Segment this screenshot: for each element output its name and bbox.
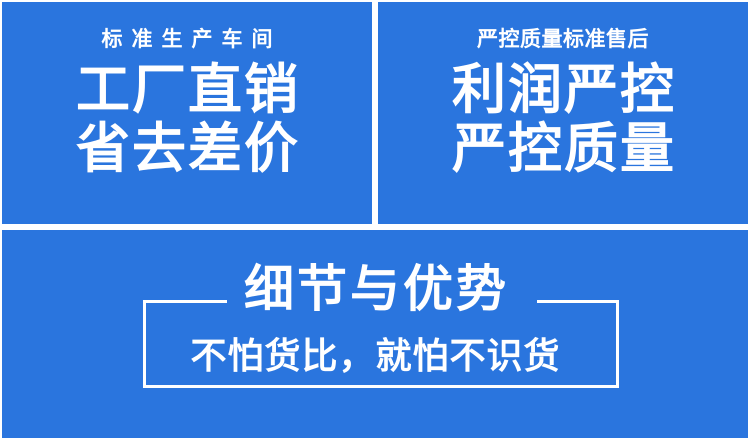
bottom-banner-subtitle: 不怕货比，就怕不识货: [2, 338, 748, 374]
panel-factory-direct: 标准生产车间 工厂直销 省去差价: [2, 2, 372, 224]
panel-headline-line1-factory-direct: 工厂直销: [74, 62, 300, 119]
panel-headline-line2-quality-control: 严控质量: [450, 121, 676, 178]
promo-banner: 标准生产车间 工厂直销 省去差价 严控质量标准售后 利润严控 严控质量 细节与优…: [0, 0, 750, 440]
top-panels-row: 标准生产车间 工厂直销 省去差价 严控质量标准售后 利润严控 严控质量: [2, 2, 748, 224]
panel-headline-line1-quality-control: 利润严控: [450, 62, 676, 119]
panel-kicker-factory-direct: 标准生产车间: [93, 29, 282, 50]
panel-headline-line2-factory-direct: 省去差价: [74, 121, 300, 178]
panel-quality-control: 严控质量标准售后 利润严控 严控质量: [378, 2, 748, 224]
bottom-banner: 细节与优势 不怕货比，就怕不识货: [2, 230, 748, 438]
bottom-banner-title: 细节与优势: [2, 264, 748, 314]
panel-kicker-quality-control: 严控质量标准售后: [477, 29, 649, 50]
